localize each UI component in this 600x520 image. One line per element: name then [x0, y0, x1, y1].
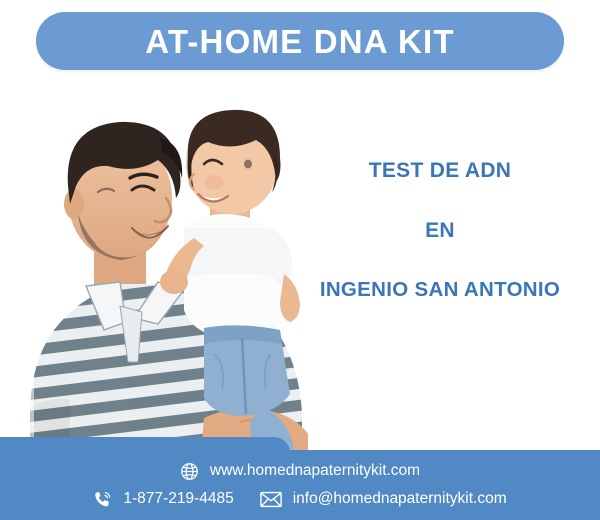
phone-number[interactable]: 1-877-219-4485	[123, 491, 233, 507]
poster: AT-HOME DNA KIT	[0, 0, 600, 520]
header-banner: AT-HOME DNA KIT	[36, 12, 564, 70]
phone-icon	[93, 490, 112, 509]
email-address[interactable]: info@homednapaternitykit.com	[293, 491, 507, 507]
envelope-icon	[260, 491, 282, 508]
headline-line-1: TEST DE ADN	[286, 160, 594, 181]
footer-website-row: www.homednapaternitykit.com	[180, 462, 420, 481]
footer-contact-row: 1-877-219-4485 info@homednapaternitykit.…	[93, 490, 506, 509]
headline-block: TEST DE ADN EN INGENIO SAN ANTONIO	[286, 160, 594, 301]
globe-icon	[180, 462, 199, 481]
email-item[interactable]: info@homednapaternitykit.com	[260, 491, 507, 508]
page-title: AT-HOME DNA KIT	[145, 25, 454, 58]
footer-bar: www.homednapaternitykit.com 1-877-219-44…	[0, 430, 600, 520]
headline-line-2: EN	[286, 220, 594, 241]
website-link[interactable]: www.homednapaternitykit.com	[210, 463, 420, 479]
phone-item[interactable]: 1-877-219-4485	[93, 490, 233, 509]
footer-content: www.homednapaternitykit.com 1-877-219-44…	[0, 450, 600, 520]
headline-line-3: INGENIO SAN ANTONIO	[286, 280, 594, 301]
